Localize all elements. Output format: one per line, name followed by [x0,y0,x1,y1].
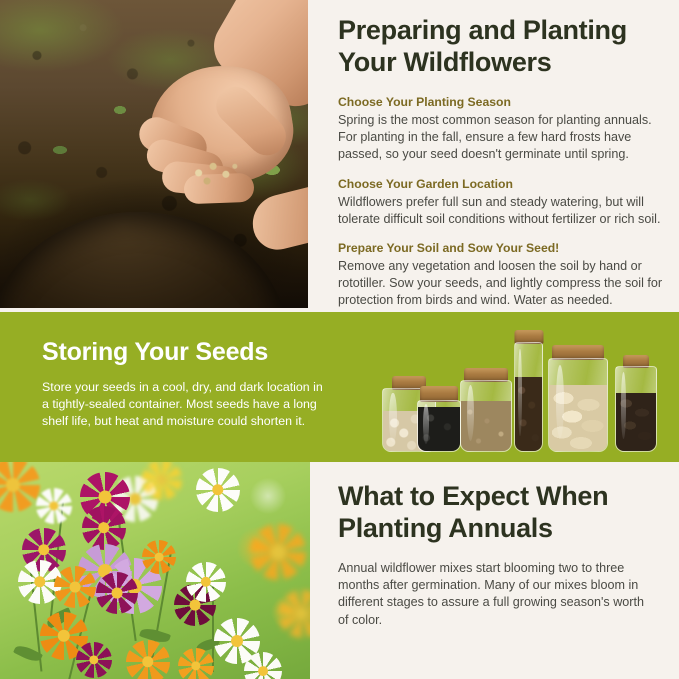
subheading-prepare-soil: Prepare Your Soil and Sow Your Seed! [338,240,664,257]
wildflower-bouquet-image [0,462,310,679]
jar-tan-grains [460,366,512,452]
infographic-page: Preparing and Planting Your Wildflowers … [0,0,679,679]
hand-sowing-seeds-image [0,0,308,308]
jar-brown-seeds-tall [514,330,543,452]
section-what-to-expect: What to Expect When Planting Annuals Ann… [0,462,679,679]
flower-white-mid [186,562,226,602]
preparing-text-column: Preparing and Planting Your Wildflowers … [338,14,664,310]
storing-text-column: Storing Your Seeds Store your seeds in a… [42,338,332,430]
seeds-in-hand [187,157,244,190]
section-preparing-and-planting: Preparing and Planting Your Wildflowers … [0,0,679,312]
glass-body [548,358,608,452]
heading-storing-your-seeds: Storing Your Seeds [42,338,332,367]
glass-body [514,342,543,452]
glass-highlight [556,365,564,439]
glass-highlight [518,349,522,435]
flower-orange-1 [54,566,96,608]
body-planting-season: Spring is the most common season for pla… [338,112,664,164]
seed-storage-jars-image [382,322,667,460]
jar-pumpkin-seeds [548,344,608,452]
block-garden-location: Choose Your Garden Location Wildflowers … [338,176,664,228]
flower-white-2 [36,488,72,524]
flower-magenta-bottom [76,642,112,678]
page-title-what-to-expect: What to Expect When Planting Annuals [338,480,648,544]
block-planting-season: Choose Your Planting Season Spring is th… [338,94,664,164]
page-title-preparing: Preparing and Planting Your Wildflowers [338,14,664,78]
flower-orange-2 [142,540,176,574]
glass-body [417,400,461,452]
subheading-planting-season: Choose Your Planting Season [338,94,664,111]
body-garden-location: Wildflowers prefer full sun and steady w… [338,194,664,228]
flower-magenta-4 [96,572,138,614]
flower-blur-orange-2 [250,524,306,580]
glass-highlight [467,385,474,441]
body-prepare-soil: Remove any vegetation and loosen the soi… [338,258,664,310]
glass-highlight [389,393,396,443]
flower-orange-5 [178,648,214,679]
jar-black-seeds [417,386,461,452]
jar-dark-flat-seeds [615,354,657,452]
hand-sowing [132,0,308,224]
glass-highlight [423,404,429,444]
flower-white-top [196,468,240,512]
block-prepare-soil: Prepare Your Soil and Sow Your Seed! Rem… [338,240,664,310]
body-storing-your-seeds: Store your seeds in a cool, dry, and dar… [42,379,332,430]
expect-text-column: What to Expect When Planting Annuals Ann… [338,480,648,629]
glass-body [460,380,512,452]
subheading-garden-location: Choose Your Garden Location [338,176,664,193]
body-what-to-expect: Annual wildflower mixes start blooming t… [338,560,648,629]
glass-body [615,366,657,452]
flower-orange-4 [126,640,170,679]
